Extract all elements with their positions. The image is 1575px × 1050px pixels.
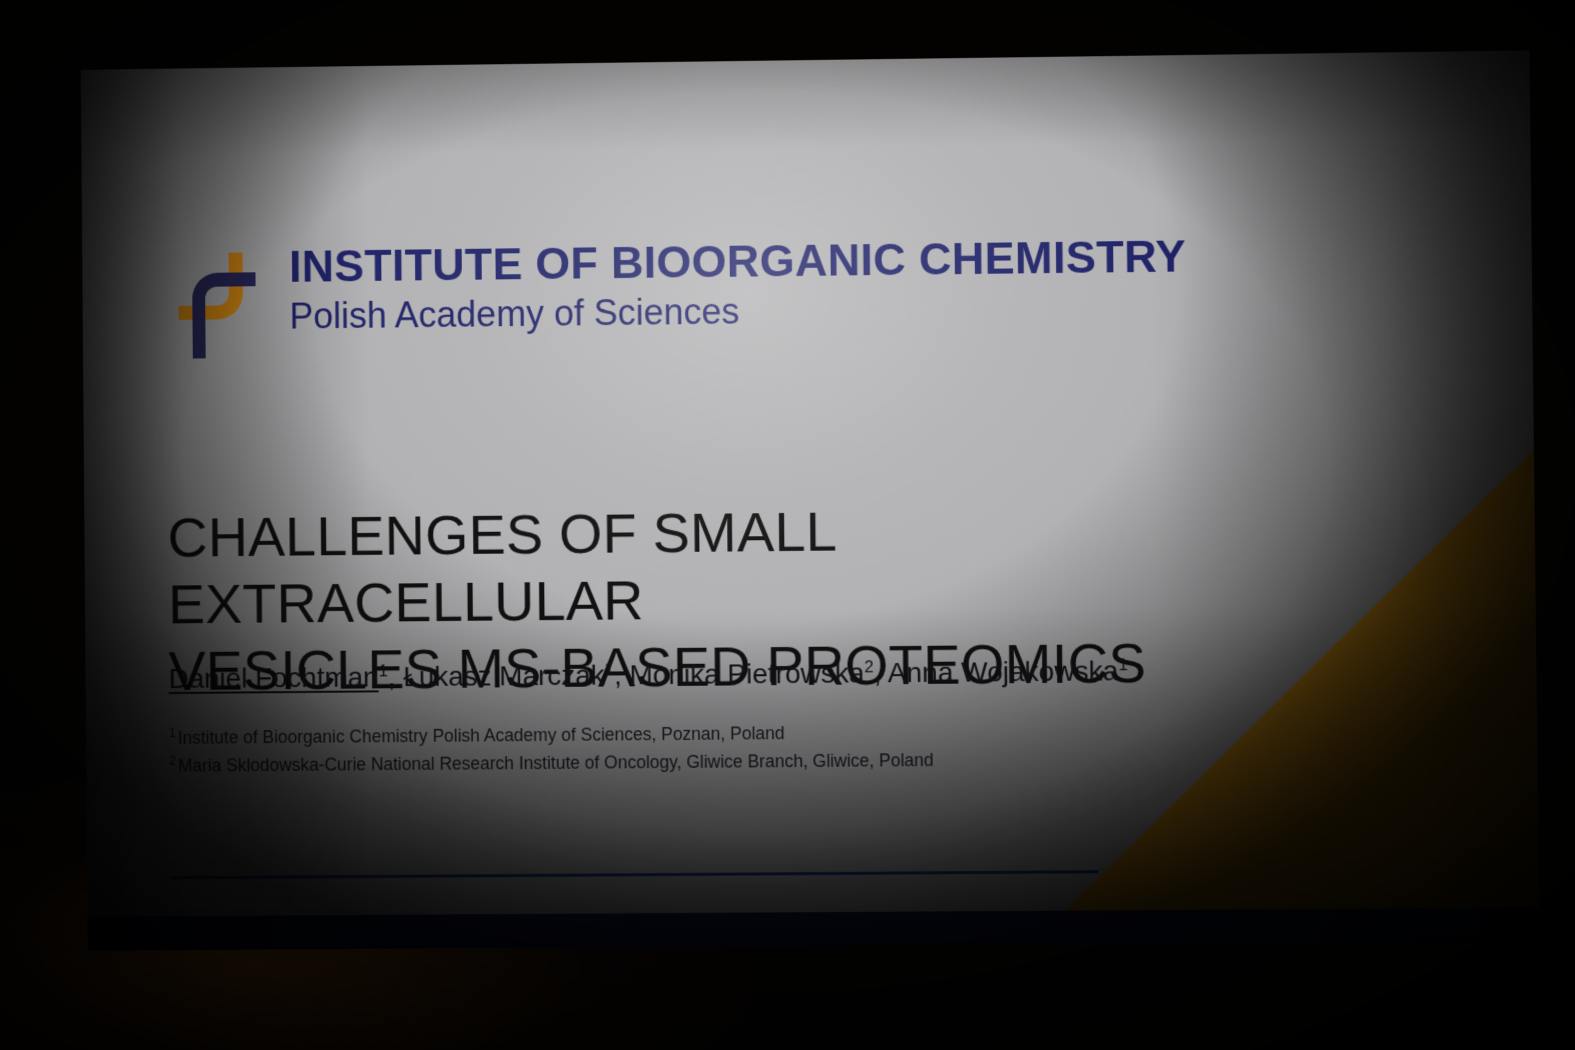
photograph-frame: INSTITUTE OF BIOORGANIC CHEMISTRY Polish…	[0, 0, 1575, 1050]
blue-divider-rule	[170, 870, 1098, 879]
institute-header-lockup: INSTITUTE OF BIOORGANIC CHEMISTRY Polish…	[178, 233, 1187, 360]
slide-title-line-1: CHALLENGES OF SMALL EXTRACELLULAR	[167, 493, 1247, 637]
author-affiliation-marker: 2	[864, 657, 874, 676]
author-affiliation-marker: 1	[1118, 655, 1128, 674]
author-affiliation-marker: 1	[605, 659, 614, 678]
affiliation-text: Maria Sklodowska-Curie National Research…	[178, 750, 934, 776]
author-entry: Łukasz Marczak1	[403, 659, 614, 692]
author-affiliation-marker: 1	[378, 661, 387, 680]
projection-screen: INSTITUTE OF BIOORGANIC CHEMISTRY Polish…	[37, 42, 1541, 974]
author-entry: Anna Wojakowska1	[888, 655, 1128, 688]
slide-bottom-navy-bar	[87, 908, 1539, 951]
affiliation-list: 1Institute of Bioorganic Chemistry Polis…	[169, 716, 1319, 780]
institute-logo-mark	[178, 250, 264, 360]
presentation-slide: INSTITUTE OF BIOORGANIC CHEMISTRY Polish…	[81, 50, 1540, 950]
author-entry: Monika Pietrowska2	[629, 657, 874, 690]
organization-name: INSTITUTE OF BIOORGANIC CHEMISTRY	[289, 233, 1186, 289]
author-name: Anna Wojakowska	[888, 655, 1119, 688]
author-separator: ,	[614, 659, 630, 690]
author-name: Daniel Fochtman	[169, 661, 379, 694]
affiliation-text: Institute of Bioorganic Chemistry Polish…	[178, 723, 785, 748]
author-name: Monika Pietrowska	[629, 657, 864, 690]
institute-header-text: INSTITUTE OF BIOORGANIC CHEMISTRY Polish…	[289, 233, 1187, 337]
affiliation-marker: 2	[169, 754, 176, 768]
author-separator: ,	[388, 661, 404, 692]
organization-subtitle: Polish Academy of Sciences	[289, 285, 1186, 337]
author-separator: ,	[874, 657, 888, 688]
affiliation-marker: 1	[169, 726, 176, 740]
author-name: Łukasz Marczak	[403, 660, 605, 693]
author-entry: Daniel Fochtman1	[169, 661, 388, 694]
